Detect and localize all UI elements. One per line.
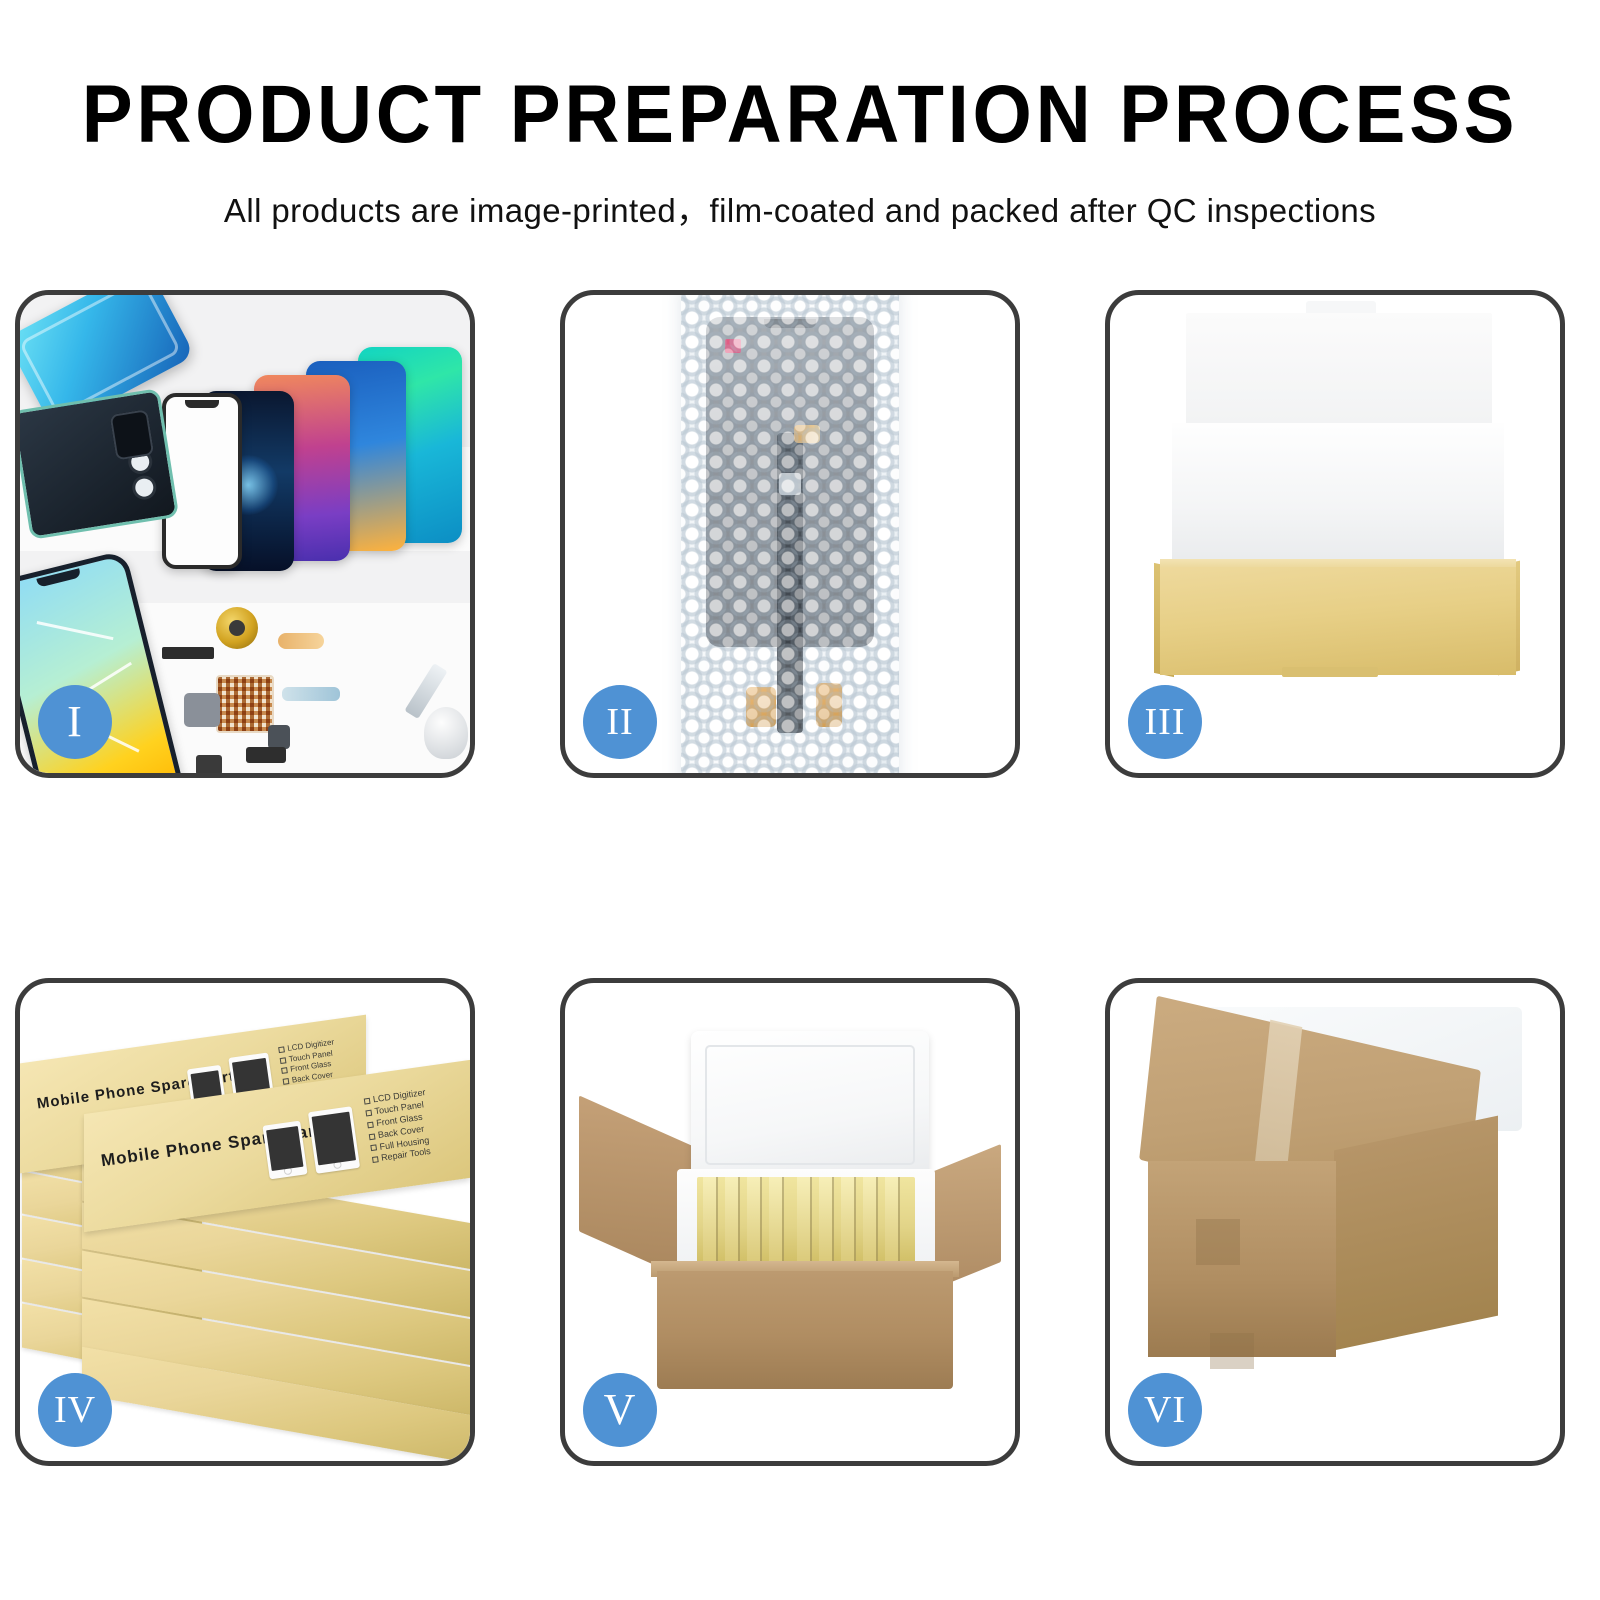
cleaning-brush-part — [424, 707, 468, 759]
flex-cable-part — [278, 633, 324, 649]
white-foam-sheet — [1172, 423, 1504, 575]
gold-boxes-inside — [697, 1177, 915, 1267]
box-screen-thumbnail — [308, 1106, 360, 1174]
gold-box-slab — [747, 1177, 762, 1267]
step-badge-2: II — [583, 685, 657, 759]
taptic-motor-part — [216, 607, 258, 649]
checkbox-icon — [280, 1057, 287, 1064]
checkbox-icon — [283, 1078, 290, 1085]
carton-flap-seam — [1210, 1333, 1254, 1369]
gold-box-slab — [797, 1177, 812, 1267]
step-card-4[interactable]: Mobile Phone Spare Parts LCD DigitizerTo… — [15, 978, 475, 1466]
box-front-wall — [1160, 567, 1516, 675]
step-card-6[interactable]: VI — [1105, 978, 1565, 1466]
checkbox-icon — [372, 1157, 379, 1164]
gold-box-slab — [841, 1177, 856, 1267]
step-badge-3: III — [1128, 685, 1202, 759]
lcd-notch — [764, 319, 816, 328]
gold-connector — [816, 683, 842, 727]
page-subtitle: All products are image-printed，film-coat… — [0, 184, 1600, 232]
bubble-wrap-bag — [681, 295, 899, 773]
carton-front-wall — [657, 1271, 953, 1389]
checkbox-icon — [364, 1098, 371, 1105]
checkbox-icon — [365, 1109, 372, 1116]
gold-box-slab — [769, 1177, 784, 1267]
flex-cable-part — [282, 687, 340, 701]
box-screen-thumbnail — [262, 1121, 307, 1180]
gold-connector — [794, 425, 820, 443]
camera-lens — [130, 452, 151, 473]
foam-cooler-lid — [691, 1031, 929, 1179]
box-lid-open — [1186, 313, 1492, 437]
gold-box-slab — [885, 1177, 900, 1267]
carton-side-face — [1334, 1116, 1498, 1351]
carton-flap-seam — [1196, 1219, 1240, 1265]
checkbox-icon — [369, 1133, 376, 1140]
ic-chip-part — [216, 675, 274, 733]
step-card-5[interactable]: V — [560, 978, 1020, 1466]
small-component-part — [196, 755, 222, 773]
checkbox-icon — [367, 1121, 374, 1128]
pink-label-tab — [725, 339, 741, 353]
gold-box-slab — [725, 1177, 740, 1267]
camera-module-part — [268, 725, 290, 749]
camera-lens — [134, 477, 155, 498]
step-badge-6: VI — [1128, 1373, 1202, 1447]
page-title: PRODUCT PREPARATION PROCESS — [56, 74, 1544, 156]
gold-connector — [746, 687, 776, 727]
checkbox-icon — [370, 1145, 377, 1152]
checkbox-icon — [281, 1068, 288, 1075]
gold-box-slab — [703, 1177, 718, 1267]
small-component-part — [246, 747, 286, 763]
step-badge-4: IV — [38, 1373, 112, 1447]
step-badge-5: V — [583, 1373, 657, 1447]
gold-box-slab — [863, 1177, 878, 1267]
retail-box-checklist: LCD DigitizerTouch PanelFront GlassBack … — [363, 1087, 434, 1166]
front-glass-panel — [162, 393, 242, 569]
process-step-grid: I II — [15, 290, 1585, 1466]
step-card-1[interactable]: I — [15, 290, 475, 778]
step-card-2[interactable]: II — [560, 290, 1020, 778]
connector-part — [184, 693, 220, 727]
step-badge-1: I — [38, 685, 112, 759]
box-closure-tab — [1282, 667, 1378, 677]
page-header: PRODUCT PREPARATION PROCESS All products… — [0, 0, 1600, 232]
carton-front-face — [1148, 1161, 1336, 1357]
lcd-driver-chip — [779, 473, 801, 495]
checkbox-icon — [278, 1047, 285, 1054]
phone-chassis-part — [20, 388, 179, 540]
crack-line — [37, 621, 114, 640]
earpiece-mesh-part — [162, 647, 214, 659]
step-card-3[interactable]: III — [1105, 290, 1565, 778]
gold-box-slab — [819, 1177, 834, 1267]
